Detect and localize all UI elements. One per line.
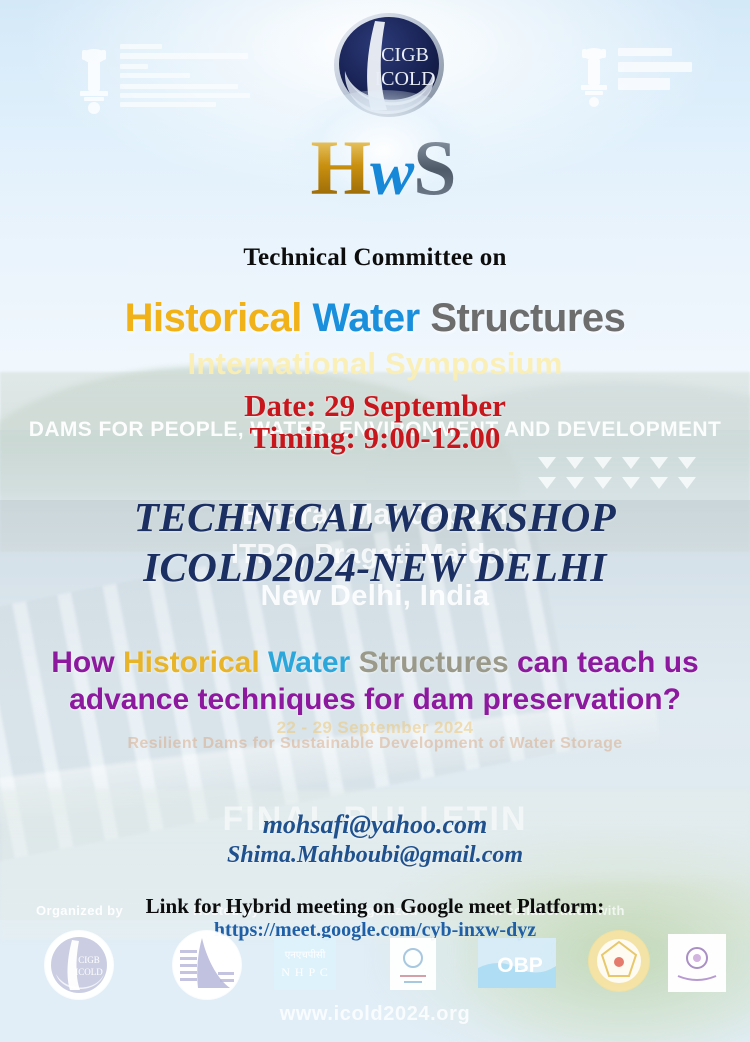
- logo-partner-8[interactable]: [668, 934, 726, 992]
- ministry-of-power-emblem-icon: [572, 40, 722, 114]
- event-date: Date: 29 September: [0, 388, 750, 424]
- logo-obp[interactable]: OBP: [478, 938, 556, 988]
- nhpc-icon: एनएचपीसी N H P C: [274, 938, 336, 990]
- logo-incold[interactable]: [172, 930, 242, 1000]
- poster-canvas: DAMS FOR PEOPLE, WATER, ENVIRONMENT AND …: [0, 0, 750, 1042]
- workshop-title-line-1: TECHNICAL WORKSHOP: [0, 493, 750, 541]
- title-word-structures: Structures: [430, 296, 625, 340]
- svg-text:एनएचपीसी: एनएचपीसी: [285, 949, 326, 961]
- hws-wordmark: HwS: [268, 116, 498, 225]
- cigb-icold-footer-icon: CIGB ICOLD: [44, 930, 114, 1000]
- contact-email-1[interactable]: mohsafi@yahoo.com: [0, 810, 750, 840]
- logo-cigb-icold[interactable]: CIGB ICOLD: [44, 930, 114, 1000]
- gold-seal-icon: [588, 930, 650, 992]
- svg-text:ICOLD: ICOLD: [75, 967, 103, 977]
- title-word-water: Water: [313, 296, 420, 340]
- svg-text:OBP: OBP: [497, 954, 543, 977]
- logo-gold-seal[interactable]: [588, 930, 650, 992]
- page-title: Historical Water Structures: [0, 296, 750, 341]
- hws-letter-w: w: [370, 136, 413, 209]
- question-word-historical: Historical: [123, 646, 268, 679]
- partner-4-icon: [390, 938, 436, 990]
- workshop-question: How Historical Water Structures can teac…: [40, 644, 710, 718]
- incold-dam-icon: [172, 930, 242, 1000]
- contact-email-2[interactable]: Shima.Mahboubi@gmail.com: [0, 842, 750, 869]
- logo-partner-4[interactable]: [390, 938, 436, 990]
- question-word-structures: Structures: [359, 646, 517, 679]
- logo-nhpc[interactable]: एनएचपीसी N H P C: [274, 938, 336, 990]
- title-word-historical: Historical: [125, 296, 302, 340]
- hws-letter-s: S: [413, 124, 455, 211]
- icold-label: ICOLD: [374, 68, 435, 90]
- question-word-water: Water: [268, 646, 359, 679]
- cigb-label: CIGB: [381, 44, 429, 66]
- technical-committee-line: Technical Committee on: [0, 244, 750, 272]
- government-of-india-emblem-icon: [68, 36, 258, 128]
- svg-text:CIGB: CIGB: [78, 955, 100, 965]
- google-meet-label: Link for Hybrid meeting on Google meet P…: [0, 894, 750, 919]
- symposium-subtitle: International Symposium: [0, 346, 750, 382]
- hws-logo: HwS: [268, 116, 498, 226]
- footer-logo-strip: CIGB ICOLD: [0, 928, 750, 1010]
- workshop-title-line-2: ICOLD2024-NEW DELHI: [0, 543, 750, 591]
- hws-letter-h: H: [310, 124, 370, 211]
- partner-8-icon: [668, 934, 726, 992]
- event-timing: Timing: 9:00-12.00: [0, 420, 750, 456]
- question-part-1: How: [51, 646, 123, 679]
- svg-text:N H P C: N H P C: [281, 965, 329, 979]
- obp-icon: OBP: [478, 938, 556, 988]
